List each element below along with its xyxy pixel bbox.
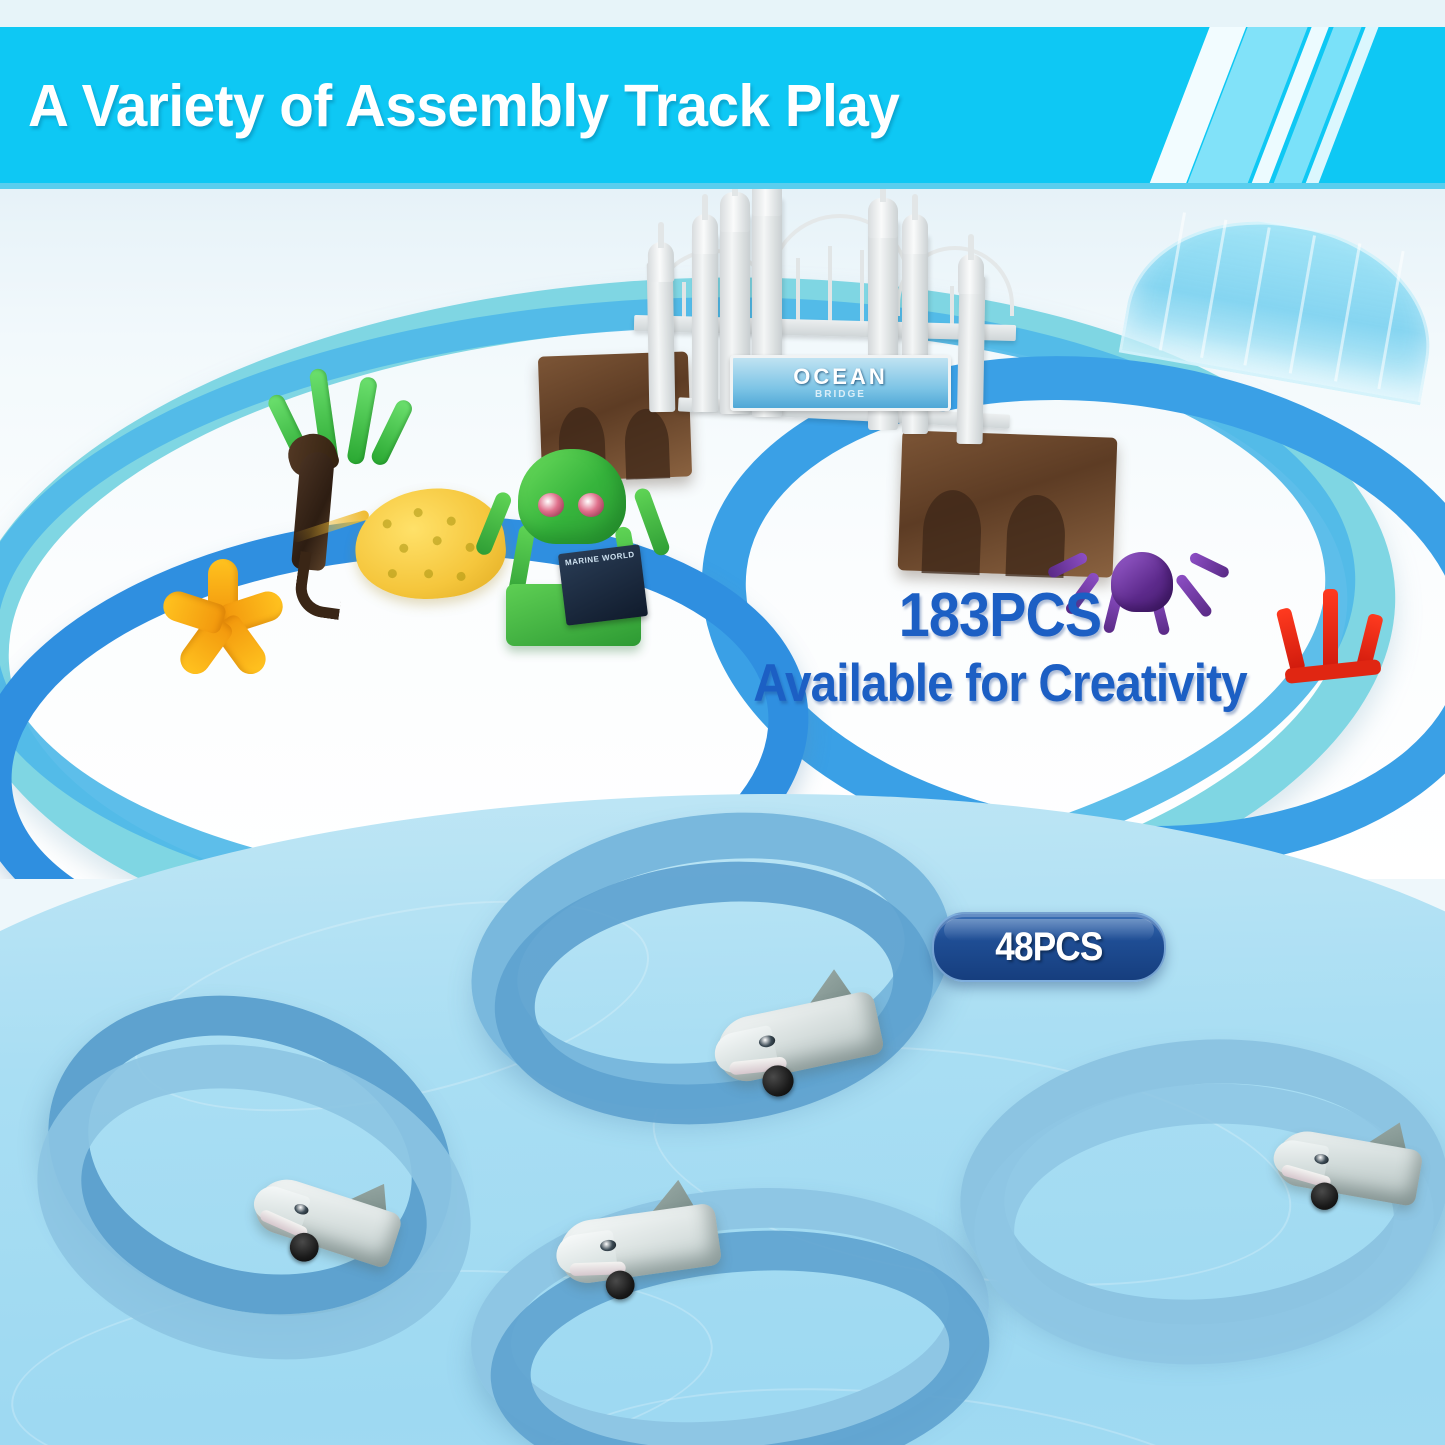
track-loop-64pcs — [960, 1040, 1400, 1330]
header-banner: A Variety of Assembly Track Play — [0, 27, 1445, 183]
pieces-tagline: Available for Creativity — [721, 657, 1279, 710]
bridge-pylon-cap — [720, 192, 750, 232]
stingray-spot — [387, 569, 397, 579]
tunnel-rib — [1377, 251, 1404, 389]
banner-stripes-decoration — [1145, 27, 1445, 183]
bridge-pylon-spike — [912, 194, 918, 220]
ocean-bridge: OCEAN BRIDGE — [620, 189, 1020, 504]
track-loop-56pcs — [470, 1190, 970, 1445]
track-loop-40pcs — [35, 990, 465, 1310]
stingray-spot — [446, 516, 456, 526]
bridge-pylon — [647, 262, 676, 412]
tunnel-rib — [1334, 243, 1361, 381]
track-loop-48pcs — [470, 815, 950, 1115]
ocean-bridge-sign: OCEAN BRIDGE — [730, 355, 951, 411]
stingray-spot — [413, 508, 423, 518]
octopus-head — [518, 449, 626, 544]
tunnel-rib — [1243, 227, 1270, 365]
bridge-pylon-cap — [902, 214, 928, 254]
badge-48pcs-label: 48PCS — [995, 925, 1102, 970]
bridge-hanger — [950, 286, 954, 326]
bridge-pylon-spike — [732, 189, 738, 196]
top-strip — [0, 0, 1445, 27]
bridge-pylon-cap — [868, 198, 898, 238]
stingray-spot — [382, 519, 392, 529]
pieces-count: 183PCS — [721, 585, 1279, 647]
bridge-pylon-spike — [968, 234, 974, 260]
bridge-pylon — [957, 276, 986, 444]
stingray-spot — [456, 571, 466, 581]
bridge-sign-subtitle: BRIDGE — [815, 390, 866, 400]
stingray-spot — [432, 536, 442, 546]
starfish-toy — [160, 559, 285, 679]
track-variations-scene: 48PCS 40PCS — [0, 760, 1445, 1445]
octopus-eye — [578, 493, 604, 517]
bridge-pylon-spike — [702, 194, 708, 220]
bridge-pylon-cap — [692, 214, 718, 254]
bridge-pylon-cap — [958, 254, 984, 294]
tunnel-rib — [1200, 220, 1227, 358]
bridge-pylon-cap — [752, 189, 782, 216]
tunnel-rib — [1159, 212, 1186, 350]
shark-car-56pcs — [552, 1182, 708, 1297]
pieces-headline: 183PCS Available for Creativity — [690, 585, 1310, 710]
bridge-pylon-spike — [658, 222, 664, 248]
coral-blade — [1323, 589, 1338, 671]
bridge-pylon-spike — [880, 189, 886, 202]
seahorse-tail — [292, 551, 347, 620]
stingray-spot — [465, 542, 475, 552]
stingray-spot — [424, 569, 434, 579]
bridge-hanger — [860, 250, 864, 330]
product-image: A Variety of Assembly Track Play — [0, 0, 1445, 1445]
stingray-spot — [399, 543, 409, 553]
bridge-hanger — [828, 246, 832, 330]
bridge-sign-title: OCEAN — [793, 366, 887, 388]
bridge-pylon — [692, 236, 718, 412]
marine-world-card-label: MARINE WORLD — [564, 550, 635, 567]
banner-title: A Variety of Assembly Track Play — [28, 77, 899, 136]
badge-48pcs[interactable]: 48PCS — [932, 912, 1166, 982]
tunnel-rib — [1289, 235, 1316, 373]
octopus-eye — [538, 493, 564, 517]
octopus-gate-toy: MARINE WORLD — [490, 449, 655, 649]
marine-world-card: MARINE WORLD — [558, 544, 648, 625]
